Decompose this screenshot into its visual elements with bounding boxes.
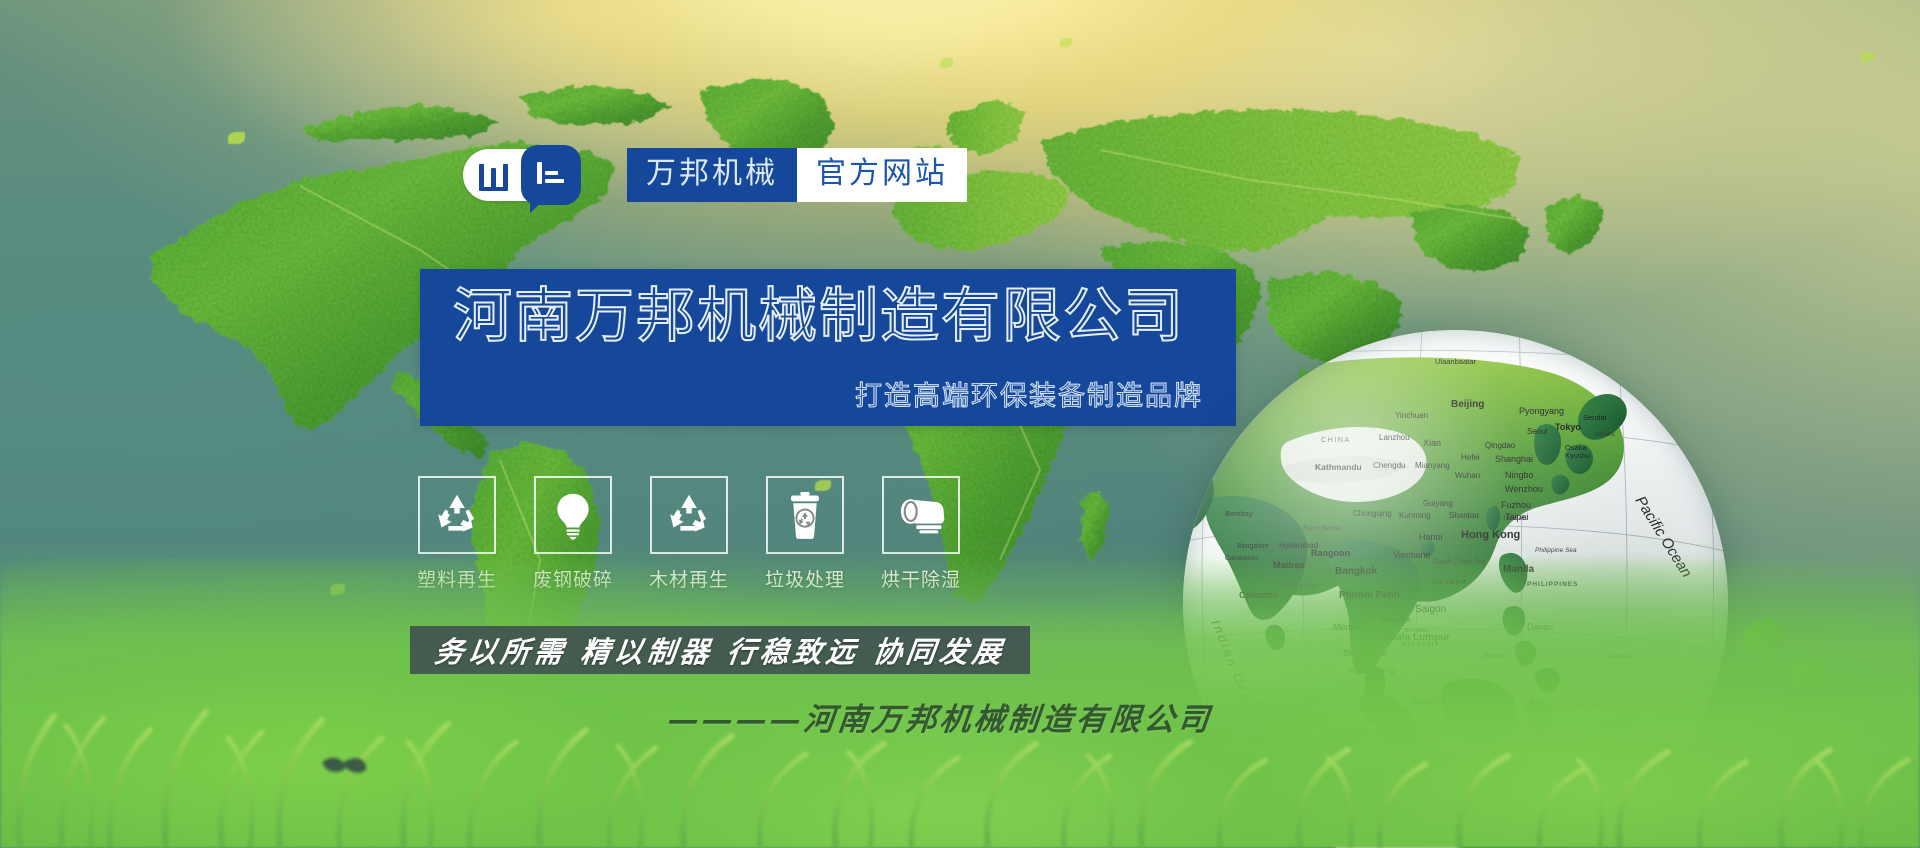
recycle-icon xyxy=(664,490,714,540)
svg-text:Hefei: Hefei xyxy=(1461,453,1480,462)
nav-tabs: 万邦机械 官方网站 xyxy=(627,148,967,202)
svg-text:CHINA: CHINA xyxy=(1321,437,1351,444)
svg-text:Tokyo: Tokyo xyxy=(1555,422,1581,432)
leaf-speck xyxy=(940,58,953,68)
svg-text:JAPAN: JAPAN xyxy=(1595,432,1615,438)
svg-text:Hong Kong: Hong Kong xyxy=(1461,529,1520,541)
leaf-speck xyxy=(228,132,245,144)
svg-text:Taipei: Taipei xyxy=(1505,512,1529,522)
svg-text:Seoul: Seoul xyxy=(1527,427,1548,436)
svg-text:Kunming: Kunming xyxy=(1399,511,1431,520)
logo-b-icon xyxy=(537,162,565,188)
slogan-text: 务以所需 精以制器 行稳致远 协同发展 xyxy=(432,629,1007,671)
lightbulb-icon xyxy=(548,490,598,540)
svg-text:Hanoi: Hanoi xyxy=(1419,532,1443,542)
page-subtitle: 打造高端环保装备制造品牌 xyxy=(855,374,1203,413)
nav-tab-company[interactable]: 万邦机械 xyxy=(627,148,797,202)
wanbang-logo[interactable] xyxy=(463,149,575,201)
page-title: 河南万邦机械制造有限公司 xyxy=(453,284,1185,349)
svg-text:Bay of Bengal: Bay of Bengal xyxy=(1303,526,1341,532)
headline-banner: 河南万邦机械制造有限公司 打造高端环保装备制造品牌 xyxy=(420,269,1236,426)
slogan-signature: ————河南万邦机械制造有限公司 xyxy=(666,694,1215,739)
svg-text:Chongqing: Chongqing xyxy=(1353,509,1392,518)
svg-text:Chengdu: Chengdu xyxy=(1373,461,1405,470)
dryer-machine-icon xyxy=(895,492,947,538)
logo-chat-bubble-icon xyxy=(521,145,581,205)
svg-text:Wenzhou: Wenzhou xyxy=(1505,484,1543,494)
nav-tab-official-site[interactable]: 官方网站 xyxy=(797,148,967,202)
trash-recycle-icon xyxy=(780,490,830,540)
svg-text:Bombay: Bombay xyxy=(1225,509,1253,518)
svg-text:Lanzhou: Lanzhou xyxy=(1379,433,1410,442)
svg-text:Beijing: Beijing xyxy=(1451,399,1484,410)
svg-text:Sendai: Sendai xyxy=(1583,413,1607,422)
leaf-speck xyxy=(1060,38,1072,47)
slogan-bar: 务以所需 精以制器 行稳致远 协同发展 xyxy=(410,626,1030,674)
site-header: 万邦机械 官方网站 xyxy=(463,148,967,202)
svg-text:Xian: Xian xyxy=(1423,438,1441,448)
promo-hero-banner: 万邦机械 官方网站 河南万邦机械制造有限公司 打造高端环保装备制造品牌 xyxy=(0,0,1920,848)
svg-text:Kyushu: Kyushu xyxy=(1565,451,1590,460)
svg-text:Shantou: Shantou xyxy=(1449,511,1479,520)
svg-text:Pyongyang: Pyongyang xyxy=(1519,406,1564,416)
logo-w-icon xyxy=(479,162,509,188)
recycle-icon xyxy=(432,490,482,540)
svg-text:Wuhan: Wuhan xyxy=(1455,471,1480,480)
svg-text:Mianyang: Mianyang xyxy=(1415,461,1450,470)
svg-text:Yinchuan: Yinchuan xyxy=(1395,411,1428,420)
svg-text:Fuzhou: Fuzhou xyxy=(1501,500,1531,510)
svg-text:Shanghai: Shanghai xyxy=(1495,454,1533,464)
svg-text:Kathmandu: Kathmandu xyxy=(1315,462,1362,472)
svg-text:Ulaanbaatar: Ulaanbaatar xyxy=(1435,357,1476,366)
leaf-speck xyxy=(1860,52,1874,62)
svg-text:Qingdao: Qingdao xyxy=(1485,441,1516,450)
svg-text:Ningbo: Ningbo xyxy=(1505,470,1534,480)
svg-text:Guiyang: Guiyang xyxy=(1423,499,1453,508)
